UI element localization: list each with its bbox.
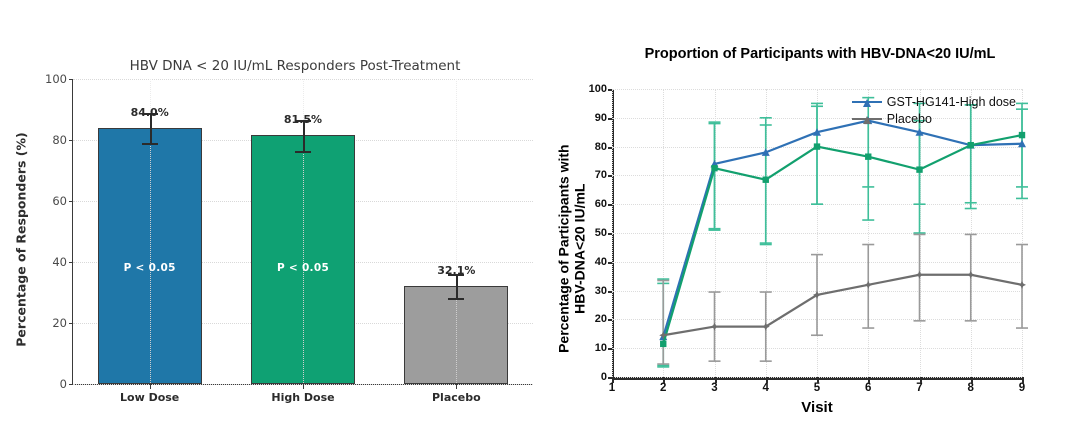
bar-chart-pvalue-annotation: P < 0.05 xyxy=(98,262,202,274)
bar-chart-y-tick-label: 20 xyxy=(52,316,67,330)
bar-chart-error-bar-cap xyxy=(142,143,158,145)
line-chart-x-tick-label: 8 xyxy=(968,382,974,394)
line-chart-x-axis-label: Visit xyxy=(612,399,1022,416)
bar-chart-error-bar-cap xyxy=(295,151,311,153)
line-chart-y-tick-label: 30 xyxy=(595,285,607,297)
bar-chart-category-label: High Dose xyxy=(251,391,355,404)
bar-chart-y-tick-label: 100 xyxy=(45,72,67,86)
line-chart-legend-item[interactable]: Placebo xyxy=(852,110,1016,127)
line-chart-y-tick-label: 90 xyxy=(595,112,607,124)
line-chart-x-tick-label: 5 xyxy=(814,382,820,394)
bar-chart-bar-center-gridline xyxy=(150,129,151,383)
line-chart-x-tick-mark xyxy=(817,377,819,383)
line-chart-y-tick-label: 0 xyxy=(601,371,607,383)
bar-chart-pvalue-annotation: P < 0.05 xyxy=(251,262,355,274)
bar-chart-y-tick-mark xyxy=(69,140,73,141)
line-chart-y-tick-label: 10 xyxy=(595,342,607,354)
line-chart-error-bar xyxy=(862,119,874,220)
bar-chart-category-label: Placebo xyxy=(404,391,508,404)
line-chart-data-point[interactable] xyxy=(1019,132,1025,138)
line-chart-data-point[interactable] xyxy=(814,143,820,149)
line-chart-plot-area: Percentage of Participants with HBV-DNA<… xyxy=(612,89,1022,377)
line-chart-legend-item[interactable]: GST-HG141-High dose xyxy=(852,93,1016,110)
bar-chart-plot-area: Percentage of Responders (%) 02040608010… xyxy=(72,79,533,385)
legend-line-high-dose xyxy=(852,101,882,103)
bar-chart-category-label: Low Dose xyxy=(98,391,202,404)
figure-canvas: HBV DNA < 20 IU/mL Responders Post-Treat… xyxy=(0,0,1073,435)
bar-chart-y-axis-label: Percentage of Responders (%) xyxy=(14,89,29,389)
line-chart-data-point[interactable] xyxy=(763,177,769,183)
bar-chart-bar-center-gridline xyxy=(456,287,457,383)
line-chart-error-bar xyxy=(914,121,926,233)
line-chart-x-tick-mark xyxy=(1022,377,1024,383)
bar-chart-y-tick-mark xyxy=(69,323,73,324)
bar-chart-y-tick-label: 0 xyxy=(60,377,67,391)
line-chart-x-tick-mark xyxy=(920,377,922,383)
line-chart-title: Proportion of Participants with HBV-DNA<… xyxy=(570,46,1070,62)
table-row[interactable]: 81.5%P < 0.05High Dose xyxy=(251,79,355,384)
line-chart-x-tick-mark xyxy=(971,377,973,383)
line-chart-y-tick-label: 80 xyxy=(595,141,607,153)
line-chart-y-axis-label-line1: Percentage of Participants with xyxy=(556,84,572,414)
bar-chart-value-label: 32.1% xyxy=(404,264,508,277)
table-row[interactable]: 32.1%Placebo xyxy=(404,79,508,384)
line-chart-data-point[interactable] xyxy=(916,166,922,172)
line-chart-x-tick-mark xyxy=(612,377,614,383)
line-chart-data-point[interactable] xyxy=(916,271,924,279)
table-row[interactable]: 84.0%P < 0.05Low Dose xyxy=(98,79,202,384)
line-chart-x-tick-label: 4 xyxy=(763,382,769,394)
bar-chart-value-label: 84.0% xyxy=(98,106,202,119)
bar-chart-bar[interactable] xyxy=(251,135,355,384)
line-chart-x-tick-label: 6 xyxy=(865,382,871,394)
line-chart-y-tick-label: 40 xyxy=(595,256,607,268)
line-chart-y-tick-label: 60 xyxy=(595,198,607,210)
line-chart-y-tick-label: 100 xyxy=(589,83,607,95)
line-chart-data-point[interactable] xyxy=(967,271,975,279)
line-chart-y-tick-label: 50 xyxy=(595,227,607,239)
bar-chart-bar[interactable] xyxy=(404,286,508,384)
line-chart-data-point[interactable] xyxy=(865,153,871,159)
line-chart-legend: GST-HG141-High dosePlacebo xyxy=(848,91,1020,129)
line-chart-data-point[interactable] xyxy=(864,281,872,289)
line-chart-x-tick-mark xyxy=(663,377,665,383)
line-chart-x-tick-label: 9 xyxy=(1019,382,1025,394)
line-chart-panel: Proportion of Participants with HBV-DNA<… xyxy=(560,0,1073,435)
bar-chart-bar-center-gridline xyxy=(303,136,304,383)
line-chart-error-bar xyxy=(760,125,772,243)
bar-chart-value-label: 81.5% xyxy=(251,113,355,126)
legend-marker-triangle-icon xyxy=(863,99,871,107)
line-chart-error-bar xyxy=(811,106,823,204)
line-chart-x-tick-mark xyxy=(766,377,768,383)
bar-chart-error-bar-cap xyxy=(448,298,464,300)
line-chart-data-point[interactable] xyxy=(711,165,717,171)
bar-chart-x-tick-mark xyxy=(303,384,304,389)
line-chart-x-tick-label: 7 xyxy=(916,382,922,394)
line-chart-series-layer xyxy=(612,89,1022,377)
bar-chart-error-bar xyxy=(456,274,458,298)
line-chart-y-tick-label: 70 xyxy=(595,169,607,181)
bar-chart-y-tick-mark xyxy=(69,79,73,80)
legend-marker-triangle-icon xyxy=(863,116,871,124)
line-chart-x-tick-label: 3 xyxy=(711,382,717,394)
line-chart-legend-label: Placebo xyxy=(887,112,932,126)
bar-chart-bar[interactable] xyxy=(98,128,202,384)
bar-chart-x-tick-mark xyxy=(456,384,457,389)
bar-chart-panel: HBV DNA < 20 IU/mL Responders Post-Treat… xyxy=(0,0,560,435)
bar-chart-x-tick-mark xyxy=(150,384,151,389)
line-chart-data-point[interactable] xyxy=(660,341,666,347)
bar-chart-y-tick-label: 60 xyxy=(52,194,67,208)
line-chart-y-axis-label-line2: HBV-DNA<20 IU/mL xyxy=(572,84,588,414)
line-chart-data-point[interactable] xyxy=(968,142,974,148)
bar-chart-y-tick-label: 80 xyxy=(52,133,67,147)
bar-chart-y-tick-label: 40 xyxy=(52,255,67,269)
line-chart-data-point[interactable] xyxy=(711,323,719,331)
bar-chart-y-tick-mark xyxy=(69,201,73,202)
bar-chart-title: HBV DNA < 20 IU/mL Responders Post-Treat… xyxy=(60,58,530,74)
line-chart-x-tick-label: 1 xyxy=(609,382,615,394)
line-chart-data-point[interactable] xyxy=(1018,281,1026,289)
line-chart-x-tick-mark xyxy=(715,377,717,383)
line-chart-y-tick-label: 20 xyxy=(595,313,607,325)
line-chart-legend-label: GST-HG141-High dose xyxy=(887,95,1016,109)
line-chart-x-tick-mark xyxy=(868,377,870,383)
bar-chart-y-tick-mark xyxy=(69,384,73,385)
legend-line-placebo xyxy=(852,118,882,120)
line-chart-y-axis-label: Percentage of Participants with HBV-DNA<… xyxy=(556,84,587,414)
bar-chart-y-tick-mark xyxy=(69,262,73,263)
line-chart-x-tick-label: 2 xyxy=(660,382,666,394)
